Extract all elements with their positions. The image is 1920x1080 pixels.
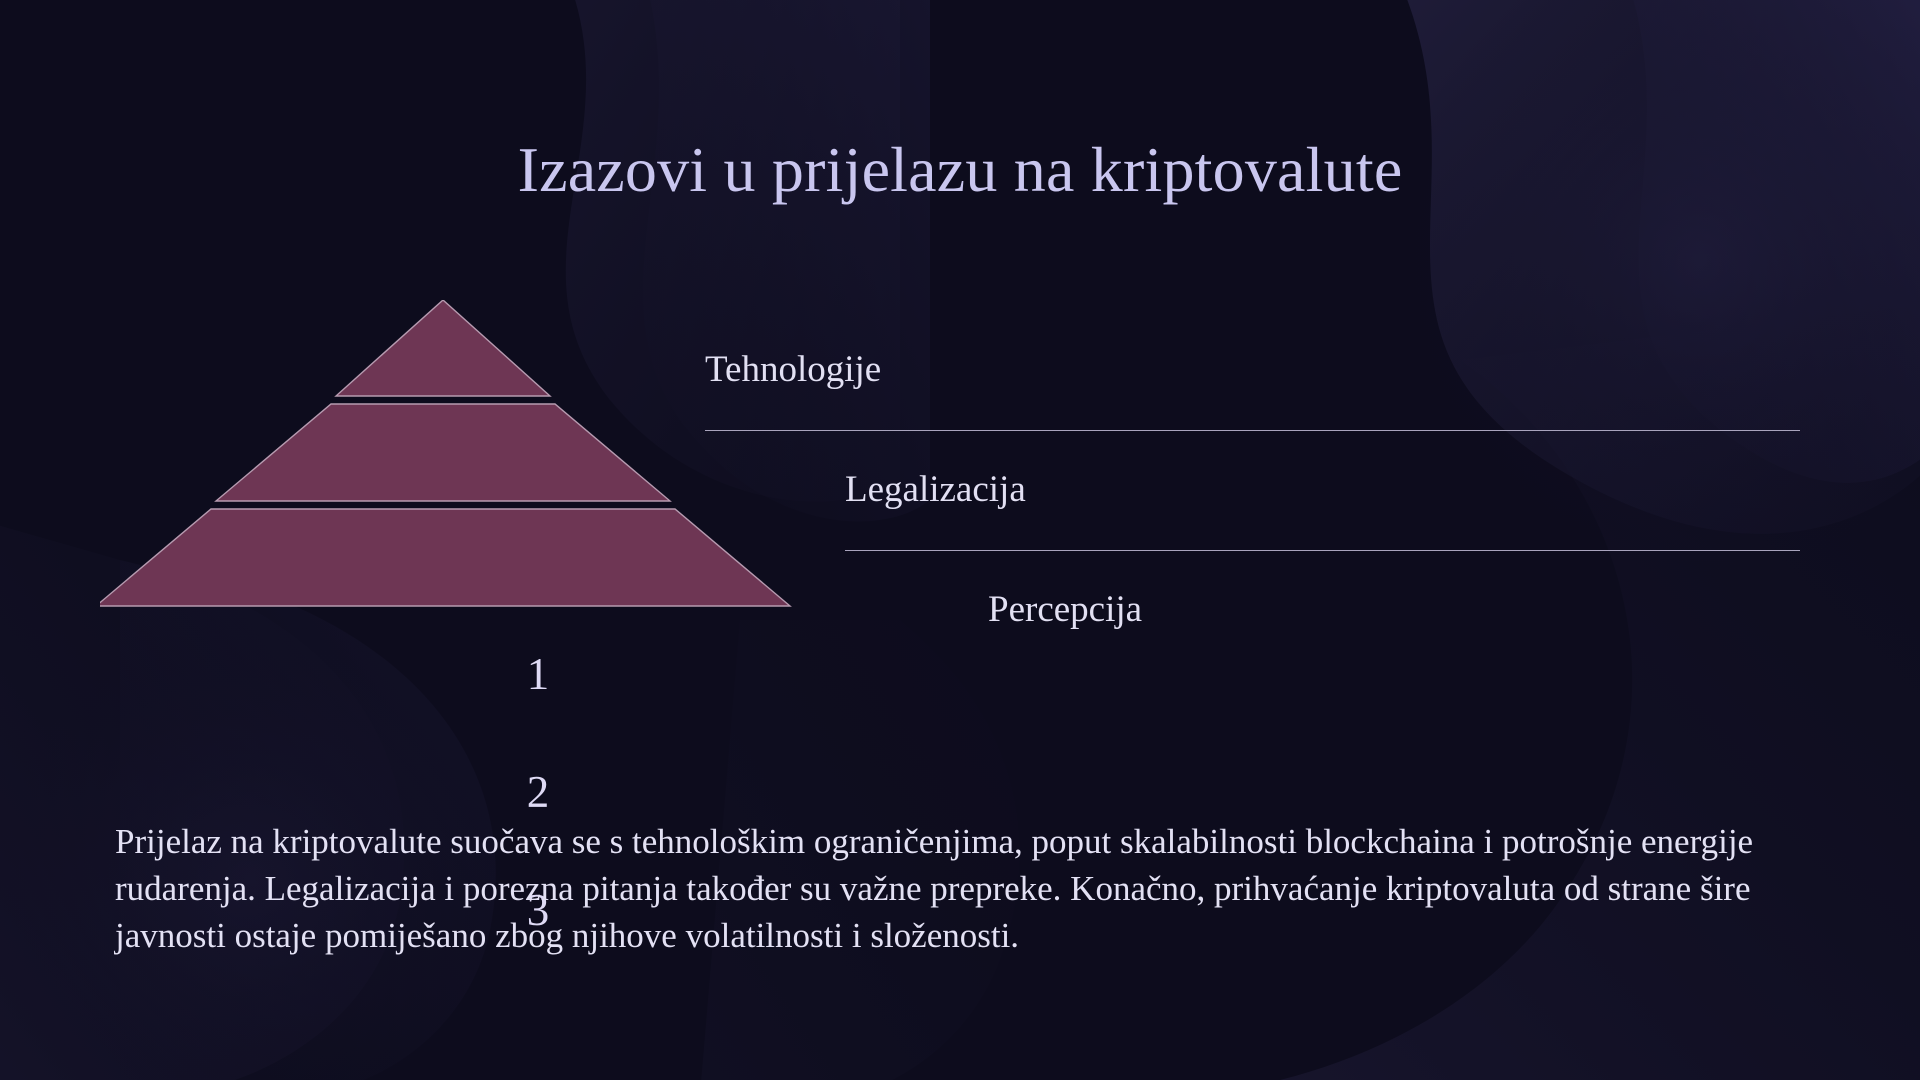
pyramid-level-1-shape[interactable]	[336, 300, 550, 396]
slide-canvas: Izazovi u prijelazu na kriptovalute 1 2 …	[0, 0, 1920, 1080]
pyramid-level-1-number: 1	[478, 652, 598, 697]
page-title: Izazovi u prijelazu na kriptovalute	[0, 135, 1920, 205]
pyramid-level-1-label: Tehnologije	[705, 348, 895, 392]
pyramid-level-2-label: Legalizacija	[845, 468, 1035, 512]
callout-connector-line-1	[705, 430, 1800, 431]
pyramid-level-2-number: 2	[478, 770, 598, 815]
pyramid-level-3-shape[interactable]	[100, 509, 790, 606]
callout-connector-line-2	[845, 550, 1800, 551]
pyramid-level-3-label: Percepcija	[988, 588, 1248, 632]
pyramid-level-2-shape[interactable]	[216, 404, 670, 501]
body-paragraph: Prijelaz na kriptovalute suočava se s te…	[115, 819, 1815, 960]
